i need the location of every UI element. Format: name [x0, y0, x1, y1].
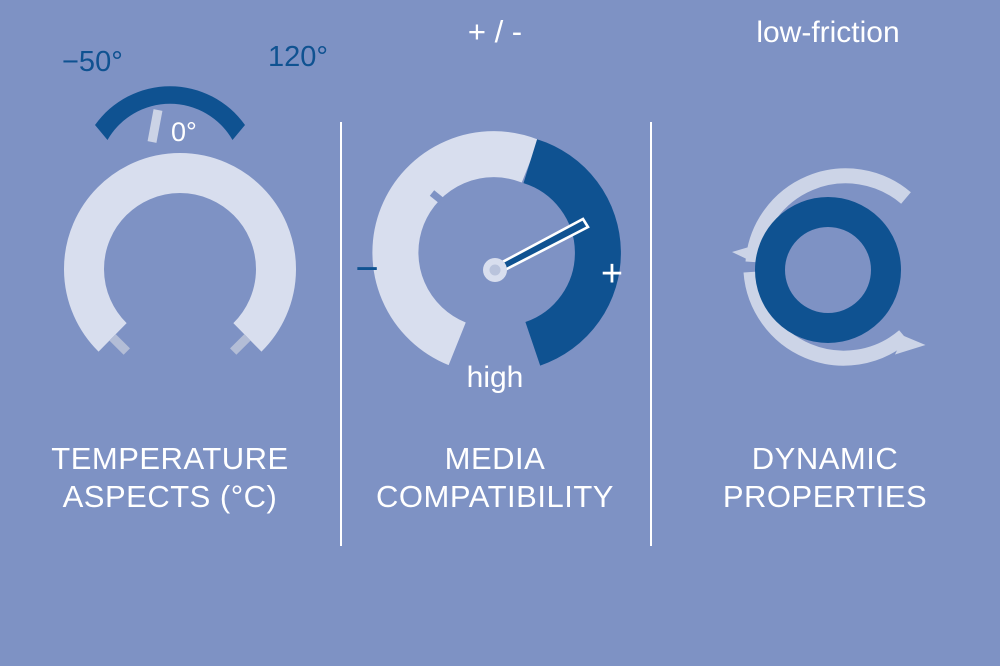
dynamic-top-label: low-friction [756, 16, 899, 49]
panel-temperature-aspects: −50° 120° 0° TEMPERATURE ASPECTS (°C) [0, 0, 340, 666]
caption-line-1: DYNAMIC [650, 440, 1000, 478]
media-compatibility-gauge-icon: + / - − + high [340, 0, 650, 430]
temperature-ring-end-ticks [113, 337, 248, 351]
media-plus-label: + [601, 253, 623, 295]
panel-media-caption: MEDIA COMPATIBILITY [340, 440, 650, 516]
temperature-min-label: −50° [62, 46, 123, 78]
temperature-max-label: 120° [268, 41, 328, 73]
temperature-range-arc [95, 86, 245, 140]
rotation-core-ring [770, 212, 886, 328]
panel-dynamic-caption: DYNAMIC PROPERTIES [650, 440, 1000, 516]
temperature-gauge-icon: −50° 120° 0° [0, 0, 340, 430]
temperature-zero-tick [152, 110, 158, 142]
panel-divider-right [650, 122, 652, 546]
panel-divider-left [340, 122, 342, 546]
infographic-canvas: −50° 120° 0° TEMPERATURE ASPECTS (°C) [0, 0, 1000, 666]
caption-line-1: TEMPERATURE [0, 440, 340, 478]
media-gauge-hub [483, 258, 507, 282]
temperature-zero-label: 0° [171, 117, 197, 147]
temperature-ring-track [84, 173, 276, 337]
caption-line-2: PROPERTIES [650, 478, 1000, 516]
caption-line-1: MEDIA [340, 440, 650, 478]
panel-media-compatibility: + / - − + high MEDIA COMPATIBILITY [340, 0, 650, 666]
panel-temperature-caption: TEMPERATURE ASPECTS (°C) [0, 440, 340, 516]
media-gauge-track-light [395, 154, 530, 344]
media-minus-label: − [355, 247, 378, 291]
panel-dynamic-properties: low-friction DYNAMIC PROPERTIES [650, 0, 1000, 666]
media-bottom-label: high [467, 361, 524, 394]
caption-line-2: COMPATIBILITY [340, 478, 650, 516]
rotation-cycle-icon: low-friction [650, 0, 1000, 430]
media-top-label: + / - [468, 14, 522, 49]
caption-line-2: ASPECTS (°C) [0, 478, 340, 516]
